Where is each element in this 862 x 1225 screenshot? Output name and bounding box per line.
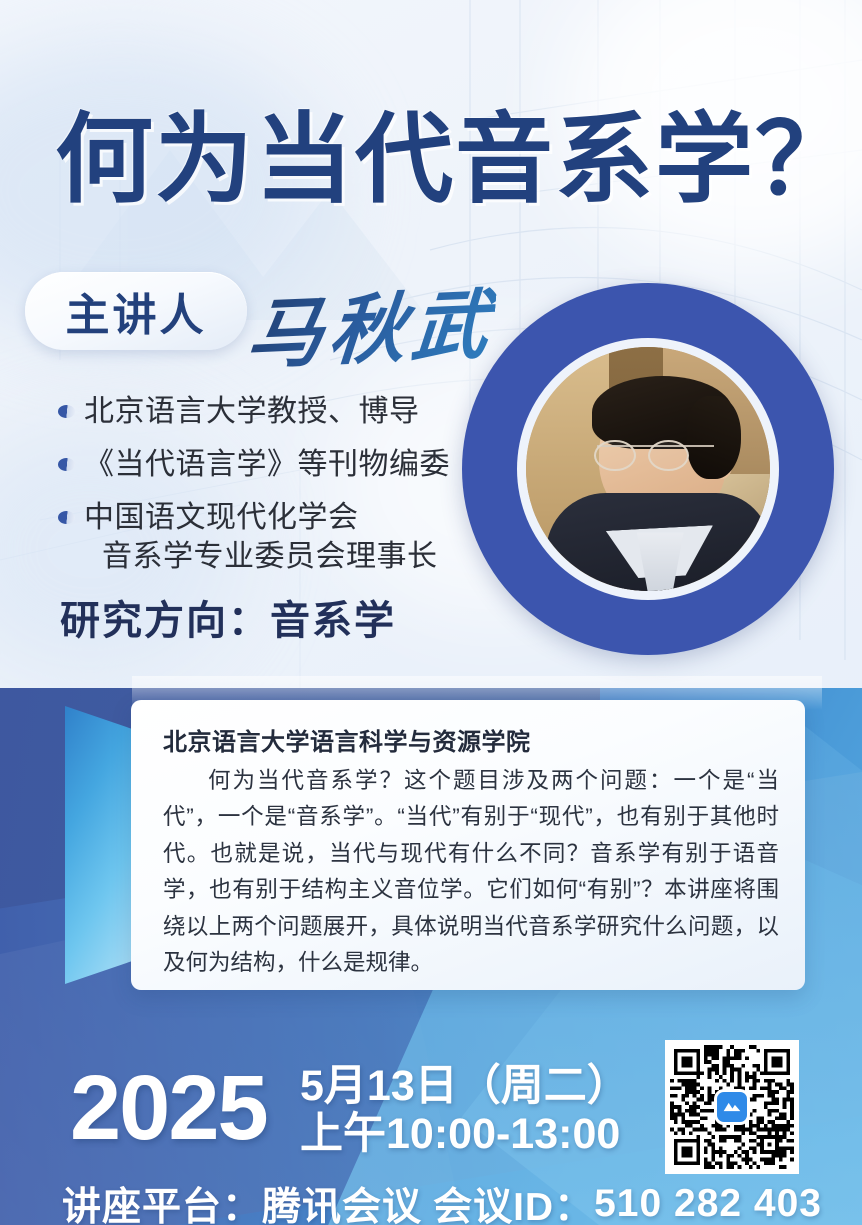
credential-text-line2: 音系学专业委员会理事长	[84, 537, 438, 576]
speaker-name: 马秋武	[243, 263, 499, 384]
footer-meeting-info: 讲座平台： 腾讯会议 会议ID： 510 282 403	[62, 1176, 822, 1225]
credentials-list: 北京语言大学教授、博导 《当代语言学》等刊物编委 中国语文现代化学会 音系学专业…	[58, 392, 478, 590]
event-date: 5月13日（周二）	[300, 1062, 630, 1110]
event-datetime: 5月13日（周二） 上午10:00-13:00	[300, 1062, 630, 1158]
abstract-text: 何为当代音系学？这个题目涉及两个问题：一个是“当代”，一个是“音系学”。“当代”…	[163, 763, 779, 982]
credential-text: 《当代语言学》等刊物编委	[84, 445, 450, 484]
organizer-name: 北京语言大学语言科学与资源学院	[163, 722, 779, 757]
card-fold-decoration	[65, 700, 141, 990]
bullet-dot-icon	[58, 405, 75, 418]
meeting-id-value: 510 282 403	[594, 1182, 822, 1225]
list-item: 中国语文现代化学会 音系学专业委员会理事长	[58, 498, 478, 576]
meeting-id-label: 会议ID：	[433, 1176, 594, 1225]
lecture-poster: 何为当代音系学？ 主讲人 马秋武 北京语言大学教授、博导 《当代语言学》等刊物编…	[0, 0, 862, 1225]
credential-text-line1: 中国语文现代化学会	[84, 501, 359, 534]
platform-value: 腾讯会议	[262, 1176, 422, 1225]
list-item: 北京语言大学教授、博导	[58, 392, 478, 431]
speaker-photo	[526, 347, 770, 591]
tencent-meeting-logo-icon	[717, 1092, 747, 1122]
bullet-dot-icon	[58, 511, 75, 524]
bullet-dot-icon	[58, 458, 75, 471]
page-title: 何为当代音系学？	[55, 110, 825, 210]
avatar	[462, 283, 834, 655]
research-direction: 研究方向：音系学	[60, 588, 396, 646]
speaker-label-pill: 主讲人	[25, 272, 247, 350]
event-year: 2025	[70, 1062, 267, 1154]
event-time: 上午10:00-13:00	[300, 1110, 630, 1158]
list-item: 《当代语言学》等刊物编委	[58, 445, 478, 484]
credential-text: 北京语言大学教授、博导	[84, 392, 420, 431]
credential-text: 中国语文现代化学会 音系学专业委员会理事长	[84, 498, 438, 576]
speaker-label-text: 主讲人	[66, 279, 207, 343]
abstract-card-wrapper: 北京语言大学语言科学与资源学院 何为当代音系学？这个题目涉及两个问题：一个是“当…	[65, 700, 805, 990]
abstract-card: 北京语言大学语言科学与资源学院 何为当代音系学？这个题目涉及两个问题：一个是“当…	[131, 700, 805, 990]
qr-code[interactable]	[665, 1040, 799, 1174]
platform-label: 讲座平台：	[62, 1176, 262, 1225]
